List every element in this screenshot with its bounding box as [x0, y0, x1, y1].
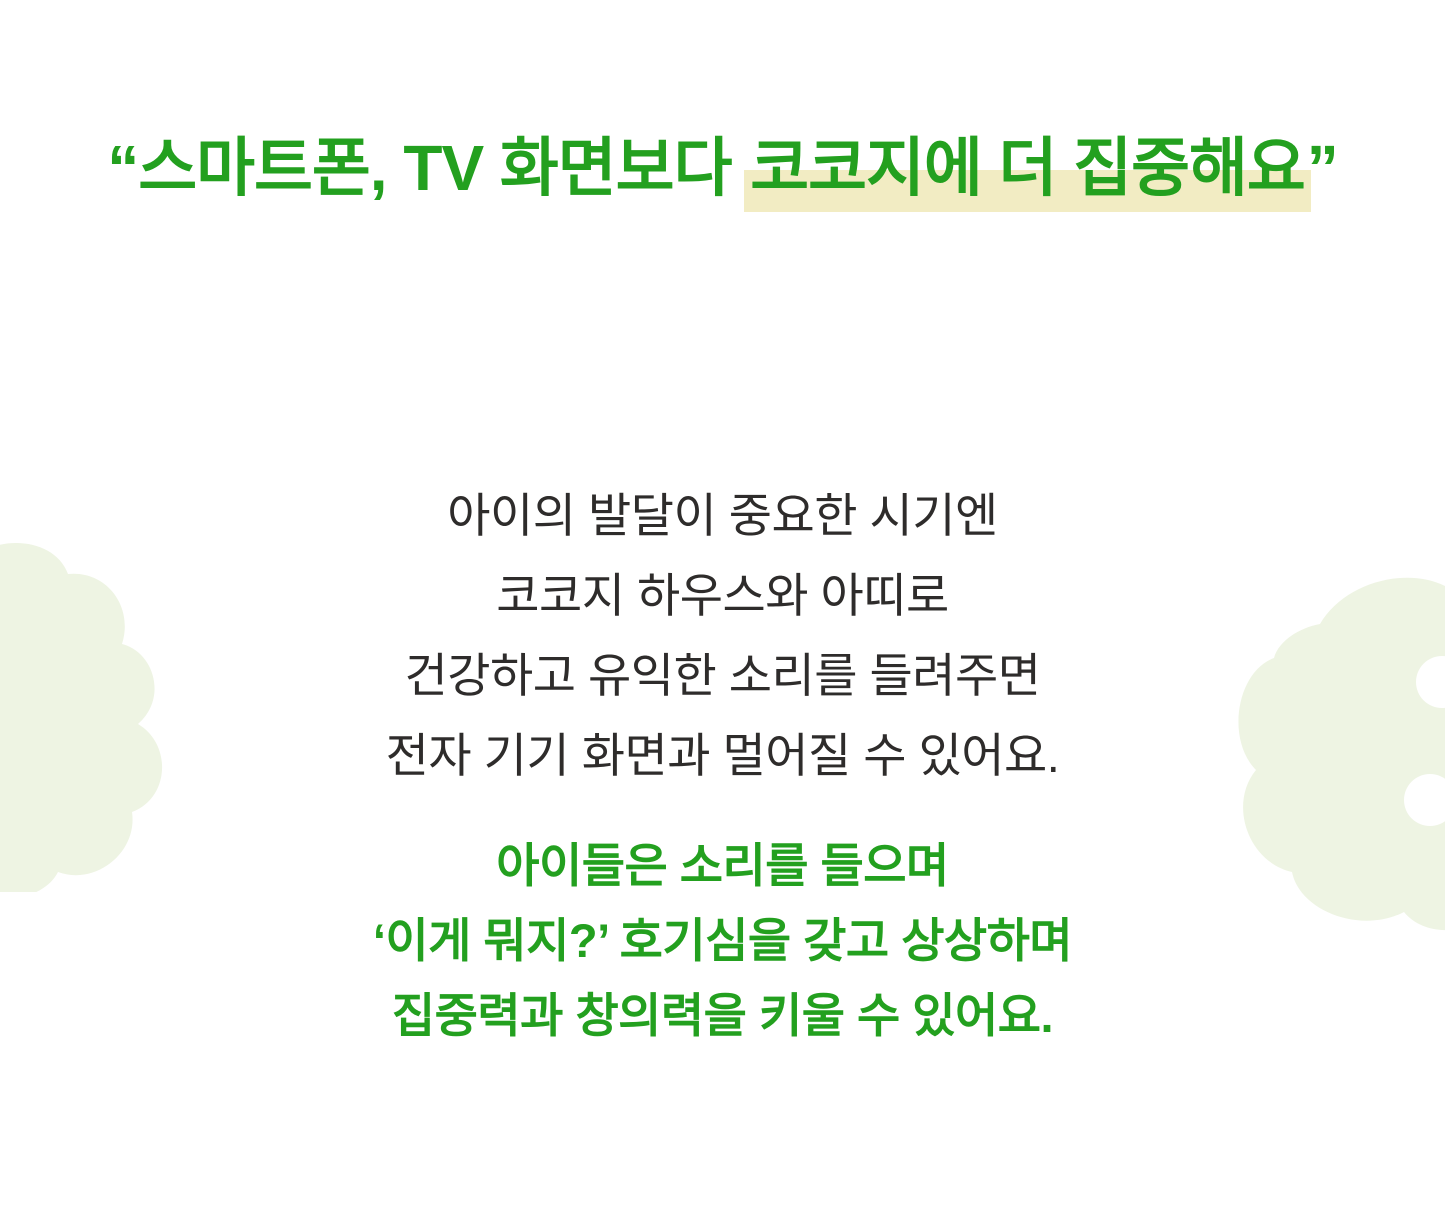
body-line-3: 건강하고 유익한 소리를 들려주면 — [0, 636, 1445, 716]
emphasis-paragraph: 아이들은 소리를 들으며 ‘이게 뭐지?’ 호기심을 갖고 상상하며 집중력과 … — [0, 828, 1445, 1053]
emphasis-line-1: 아이들은 소리를 들으며 — [0, 828, 1445, 903]
body-line-4: 전자 기기 화면과 멀어질 수 있어요. — [0, 716, 1445, 796]
emphasis-line-3: 집중력과 창의력을 키울 수 있어요. — [0, 978, 1445, 1053]
title-highlighted-text: 코코지에 더 집중해요 — [748, 131, 1306, 207]
body-line-2: 코코지 하우스와 아띠로 — [0, 556, 1445, 636]
emphasis-line-2: ‘이게 뭐지?’ 호기심을 갖고 상상하며 — [0, 903, 1445, 978]
title-plain-text: 스마트폰, TV 화면보다 — [138, 132, 748, 204]
body-line-1: 아이의 발달이 중요한 시기엔 — [0, 476, 1445, 556]
title-open-quote: “ — [107, 132, 138, 204]
title-close-quote: ” — [1307, 132, 1338, 204]
body-paragraph: 아이의 발달이 중요한 시기엔 코코지 하우스와 아띠로 건강하고 유익한 소리… — [0, 476, 1445, 796]
page-title: “스마트폰, TV 화면보다 코코지에 더 집중해요” — [0, 131, 1445, 207]
promo-poster: “스마트폰, TV 화면보다 코코지에 더 집중해요” 아이의 발달이 중요한 … — [0, 0, 1445, 1222]
